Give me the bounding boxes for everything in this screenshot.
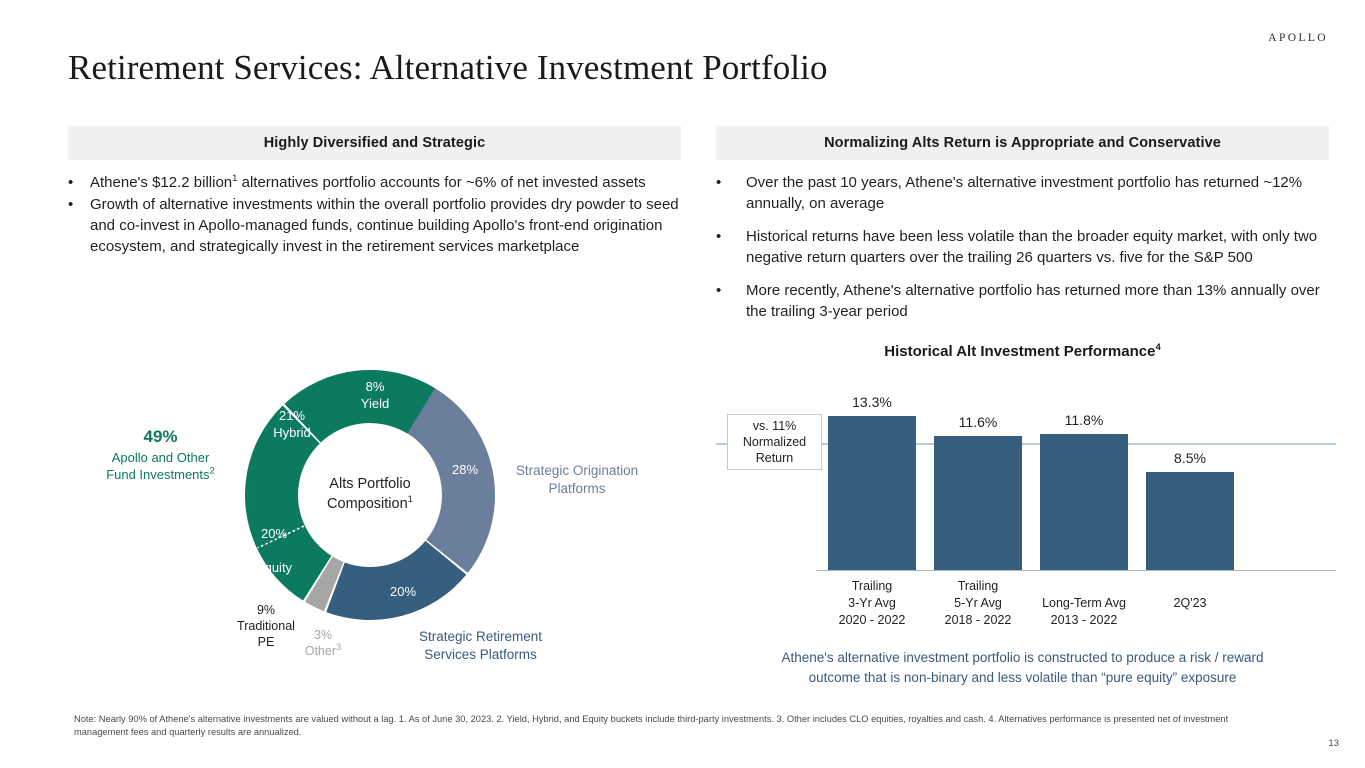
- bar-xlabel-line: 2018 - 2022: [945, 613, 1012, 627]
- bullet-text: Growth of alternative investments within…: [90, 194, 685, 257]
- bullet-marker-icon: •: [68, 172, 90, 193]
- bar-value-label-2: 11.6%: [922, 414, 1034, 430]
- bar-chart-title-footnote-marker: 4: [1155, 342, 1160, 353]
- list-item: • More recently, Athene's alternative po…: [716, 280, 1333, 322]
- bar-4: [1146, 472, 1234, 570]
- bar-xlabel-line: Long-Term Avg: [1042, 596, 1126, 610]
- page-number: 13: [1328, 738, 1339, 749]
- list-item: • Athene's $12.2 billion1 alternatives p…: [68, 172, 685, 193]
- other-percent: 3%: [314, 628, 332, 642]
- other-name: Other: [305, 644, 336, 658]
- bar-chart-axis-line: [816, 570, 1336, 571]
- normalized-return-callout-box: vs. 11% Normalized Return: [727, 414, 822, 470]
- strategic-retirement-line1: Strategic Retirement: [419, 629, 542, 644]
- bar-3: [1040, 434, 1128, 570]
- strategic-retirement-line2: Services Platforms: [424, 647, 537, 662]
- bullet-text: Over the past 10 years, Athene's alterna…: [746, 172, 1333, 214]
- donut-center-label: Alts Portfolio Composition1: [300, 474, 440, 514]
- bar-caption-line2: outcome that is non-binary and less vola…: [809, 670, 1237, 685]
- bullet-text: More recently, Athene's alternative port…: [746, 280, 1333, 322]
- left-bullet-list: • Athene's $12.2 billion1 alternatives p…: [68, 172, 685, 258]
- bar-xlabel-4: 2Q'23: [1122, 595, 1258, 612]
- page-title: Retirement Services: Alternative Investm…: [68, 48, 828, 88]
- bullet-text: Athene's $12.2 billion1 alternatives por…: [90, 172, 685, 193]
- traditional-pe-name-line2: PE: [258, 635, 275, 649]
- bar-xlabel-line: 2013 - 2022: [1051, 613, 1118, 627]
- bar-chart-title: Historical Alt Investment Performance4: [716, 343, 1329, 360]
- donut-callout-apollo-fund-investments: 49% Apollo and Other Fund Investments2: [78, 428, 243, 483]
- bar-xlabel-line: 2020 - 2022: [839, 613, 906, 627]
- apollo-fund-name-line2: Fund Investments: [106, 467, 209, 482]
- normalized-return-line2: Normalized: [743, 435, 806, 449]
- bar-chart-title-text: Historical Alt Investment Performance: [884, 343, 1155, 360]
- bar-xlabel-line: 5-Yr Avg: [954, 596, 1002, 610]
- bullet-marker-icon: •: [716, 280, 746, 322]
- bar-xlabel-line: Trailing: [958, 579, 999, 593]
- bar-value-label-3: 11.8%: [1028, 412, 1140, 428]
- bullet-marker-icon: •: [716, 172, 746, 214]
- bar-xlabel-line: 2Q'23: [1174, 596, 1207, 610]
- left-panel-header: Highly Diversified and Strategic: [68, 126, 681, 160]
- bullet-marker-icon: •: [716, 226, 746, 268]
- bar-chart-caption: Athene's alternative investment portfoli…: [716, 648, 1329, 688]
- apollo-fund-name-line1: Apollo and Other: [112, 450, 210, 465]
- traditional-pe-percent: 9%: [257, 603, 275, 617]
- donut-callout-strategic-origination: Strategic Origination Platforms: [497, 462, 657, 498]
- list-item: • Over the past 10 years, Athene's alter…: [716, 172, 1333, 214]
- strategic-origination-line1: Strategic Origination: [516, 463, 638, 478]
- right-panel-header: Normalizing Alts Return is Appropriate a…: [716, 126, 1329, 160]
- list-item: • Historical returns have been less vola…: [716, 226, 1333, 268]
- footnote: Note: Nearly 90% of Athene's alternative…: [74, 713, 1274, 739]
- bar-xlabel-line: 3-Yr Avg: [848, 596, 896, 610]
- donut-center-line1: Alts Portfolio: [329, 476, 410, 492]
- normalized-return-line3: Return: [756, 451, 794, 465]
- apollo-fund-footnote-marker: 2: [210, 466, 215, 477]
- normalized-return-line1: vs. 11%: [753, 419, 797, 433]
- bar-2: [934, 436, 1022, 570]
- slide-canvas: APOLLO Retirement Services: Alternative …: [0, 0, 1365, 768]
- bar-1: [828, 416, 916, 570]
- donut-center-line2: Composition: [327, 496, 408, 512]
- apollo-fund-percent: 49%: [78, 428, 243, 445]
- list-item: • Growth of alternative investments with…: [68, 194, 685, 257]
- bullet-marker-icon: •: [68, 194, 90, 257]
- bar-xlabel-line: Trailing: [852, 579, 893, 593]
- bullet-text: Historical returns have been less volati…: [746, 226, 1333, 268]
- historical-alt-performance-bar-chart: vs. 11% Normalized Return 13.3%Trailing3…: [716, 370, 1336, 690]
- right-bullet-list: • Over the past 10 years, Athene's alter…: [716, 172, 1333, 334]
- bar-value-label-1: 13.3%: [816, 394, 928, 410]
- donut-center-footnote-marker: 1: [408, 494, 413, 505]
- other-footnote-marker: 3: [336, 642, 341, 653]
- donut-callout-other: 3% Other3: [288, 627, 358, 659]
- donut-callout-strategic-retirement: Strategic Retirement Services Platforms: [393, 628, 568, 664]
- apollo-logo: APOLLO: [1268, 32, 1328, 44]
- bar-caption-line1: Athene's alternative investment portfoli…: [781, 650, 1263, 665]
- traditional-pe-name-line1: Traditional: [237, 619, 295, 633]
- bar-value-label-4: 8.5%: [1134, 450, 1246, 466]
- strategic-origination-line2: Platforms: [548, 481, 605, 496]
